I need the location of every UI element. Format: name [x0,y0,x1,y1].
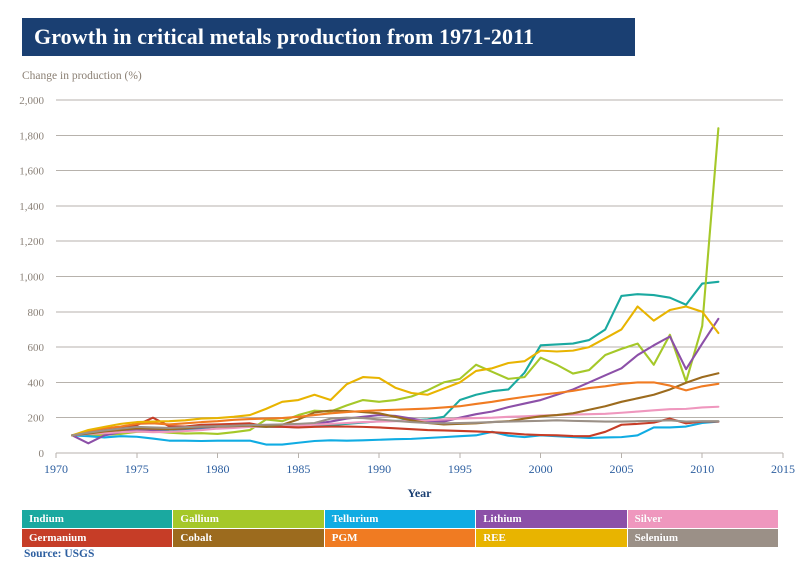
x-axis-tick-label: 1985 [286,462,310,476]
legend-item-ree[interactable]: REE [476,529,626,547]
y-axis-caption: Change in production (%) [22,70,142,82]
y-axis-tick-label: 1,200 [19,236,44,248]
x-axis-tick-label: 1990 [367,462,391,476]
y-axis-tick-label: 1,400 [19,201,44,213]
legend-item-silver[interactable]: Silver [628,510,778,528]
chart-legend: IndiumGalliumTelluriumLithiumSilverGerma… [22,510,778,547]
y-axis-tick-label: 1,800 [19,130,44,142]
source-label: Source: USGS [24,548,94,560]
y-axis-tick-label: 400 [28,377,45,389]
series-line-gallium [72,128,718,435]
series-line-lithium [72,319,718,443]
series-line-ree [72,307,718,436]
x-axis-tick-label: 1975 [125,462,149,476]
legend-item-selenium[interactable]: Selenium [628,529,778,547]
y-axis-tick-label: 1,600 [19,166,44,178]
x-axis-tick-label: 1970 [44,462,68,476]
legend-item-label: Lithium [483,513,522,525]
legend-item-label: Selenium [635,532,678,544]
legend-item-indium[interactable]: Indium [22,510,172,528]
x-axis-tick-label: 2015 [771,462,795,476]
x-axis-tick-label: 1980 [206,462,230,476]
legend-item-tellurium[interactable]: Tellurium [325,510,475,528]
y-axis-tick-label: 800 [28,307,45,319]
y-axis-tick-label: 0 [39,448,45,460]
x-axis-tick-label: 1995 [448,462,472,476]
legend-item-cobalt[interactable]: Cobalt [173,529,323,547]
x-axis-tick-label: 2005 [609,462,633,476]
legend-item-label: Cobalt [180,532,212,544]
y-axis-tick-label: 2,000 [19,95,44,107]
legend-item-gallium[interactable]: Gallium [173,510,323,528]
series-line-tellurium [72,422,718,445]
legend-item-label: Tellurium [332,513,379,525]
series-line-selenium [72,418,718,436]
legend-item-label: Indium [29,513,64,525]
page-title: Growth in critical metals production fro… [22,24,534,50]
legend-item-label: Silver [635,513,663,525]
legend-item-pgm[interactable]: PGM [325,529,475,547]
x-axis-tick-label: 2010 [690,462,714,476]
series-line-germanium [72,418,718,437]
series-line-cobalt [72,373,718,435]
legend-item-germanium[interactable]: Germanium [22,529,172,547]
legend-item-label: REE [483,532,506,544]
legend-item-label: Gallium [180,513,219,525]
x-axis-tick-label: 2000 [529,462,553,476]
y-axis-tick-label: 600 [28,342,45,354]
y-axis-tick-label: 1,000 [19,272,44,284]
series-line-indium [72,282,718,436]
series-line-silver [72,407,718,436]
legend-item-label: PGM [332,532,358,544]
y-axis-tick-label: 200 [28,413,45,425]
x-axis-title: Year [408,486,433,500]
legend-item-label: Germanium [29,532,86,544]
series-line-pgm [72,382,718,435]
chart-title-bar: Growth in critical metals production fro… [22,18,635,56]
line-chart: 02004006008001,0001,2001,4001,6001,8002,… [0,0,800,565]
legend-item-lithium[interactable]: Lithium [476,510,626,528]
chart-plot-area: 02004006008001,0001,2001,4001,6001,8002,… [0,0,800,565]
